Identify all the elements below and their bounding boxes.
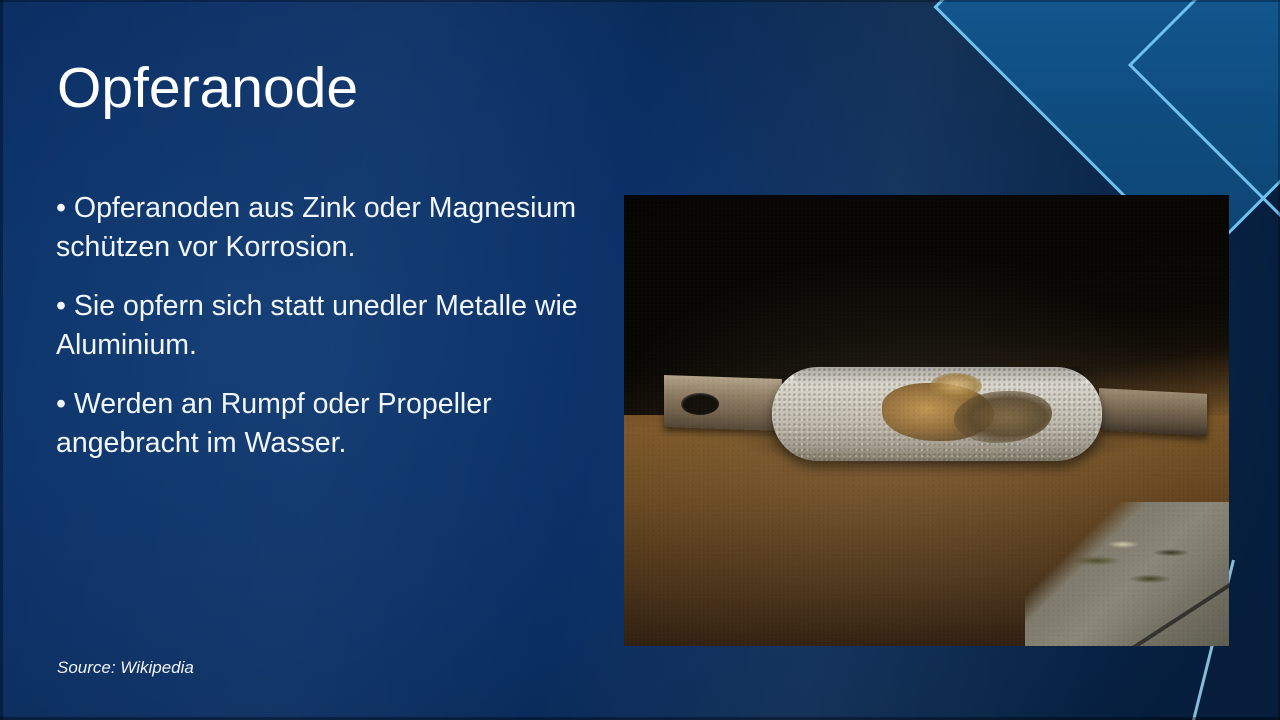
photo-rust-plate: [624, 195, 1229, 646]
bullet-item-3: • Werden an Rumpf oder Propeller angebra…: [56, 385, 601, 463]
photo-anode-body: [772, 367, 1102, 461]
source-attribution: Source: Wikipedia: [57, 658, 194, 678]
anode-photograph: [624, 195, 1229, 646]
photo-corrosion-patch-c: [930, 373, 982, 399]
bullet-item-1: • Opferanoden aus Zink oder Magnesium sc…: [56, 189, 601, 267]
photo-hull-edge: [1040, 564, 1229, 646]
photo-vignette: [624, 195, 1229, 646]
photo-anode-mount-left: [664, 375, 782, 431]
photo-stone-pavement: [1025, 502, 1229, 646]
slide-title: Opferanode: [57, 56, 358, 122]
photo-anode-texture: [772, 367, 1102, 461]
photo-debris: [1051, 528, 1201, 610]
photo-corrosion-patch-b: [954, 391, 1052, 443]
photo-anode-shadow: [668, 395, 1208, 475]
photo-anode-mount-right: [1099, 388, 1207, 436]
bullet-item-2: • Sie opfern sich statt unedler Metalle …: [56, 287, 601, 365]
slide-body: • Opferanoden aus Zink oder Magnesium sc…: [56, 189, 601, 463]
photo-shadow-band: [624, 195, 1229, 415]
presentation-slide: Opferanode • Opferanoden aus Zink oder M…: [0, 0, 1280, 720]
photo-anode-bolt-hole: [681, 393, 719, 415]
photo-grain: [624, 195, 1229, 646]
photo-anode-top-shade: [794, 367, 1084, 385]
photo-corrosion-patch-a: [882, 383, 994, 441]
